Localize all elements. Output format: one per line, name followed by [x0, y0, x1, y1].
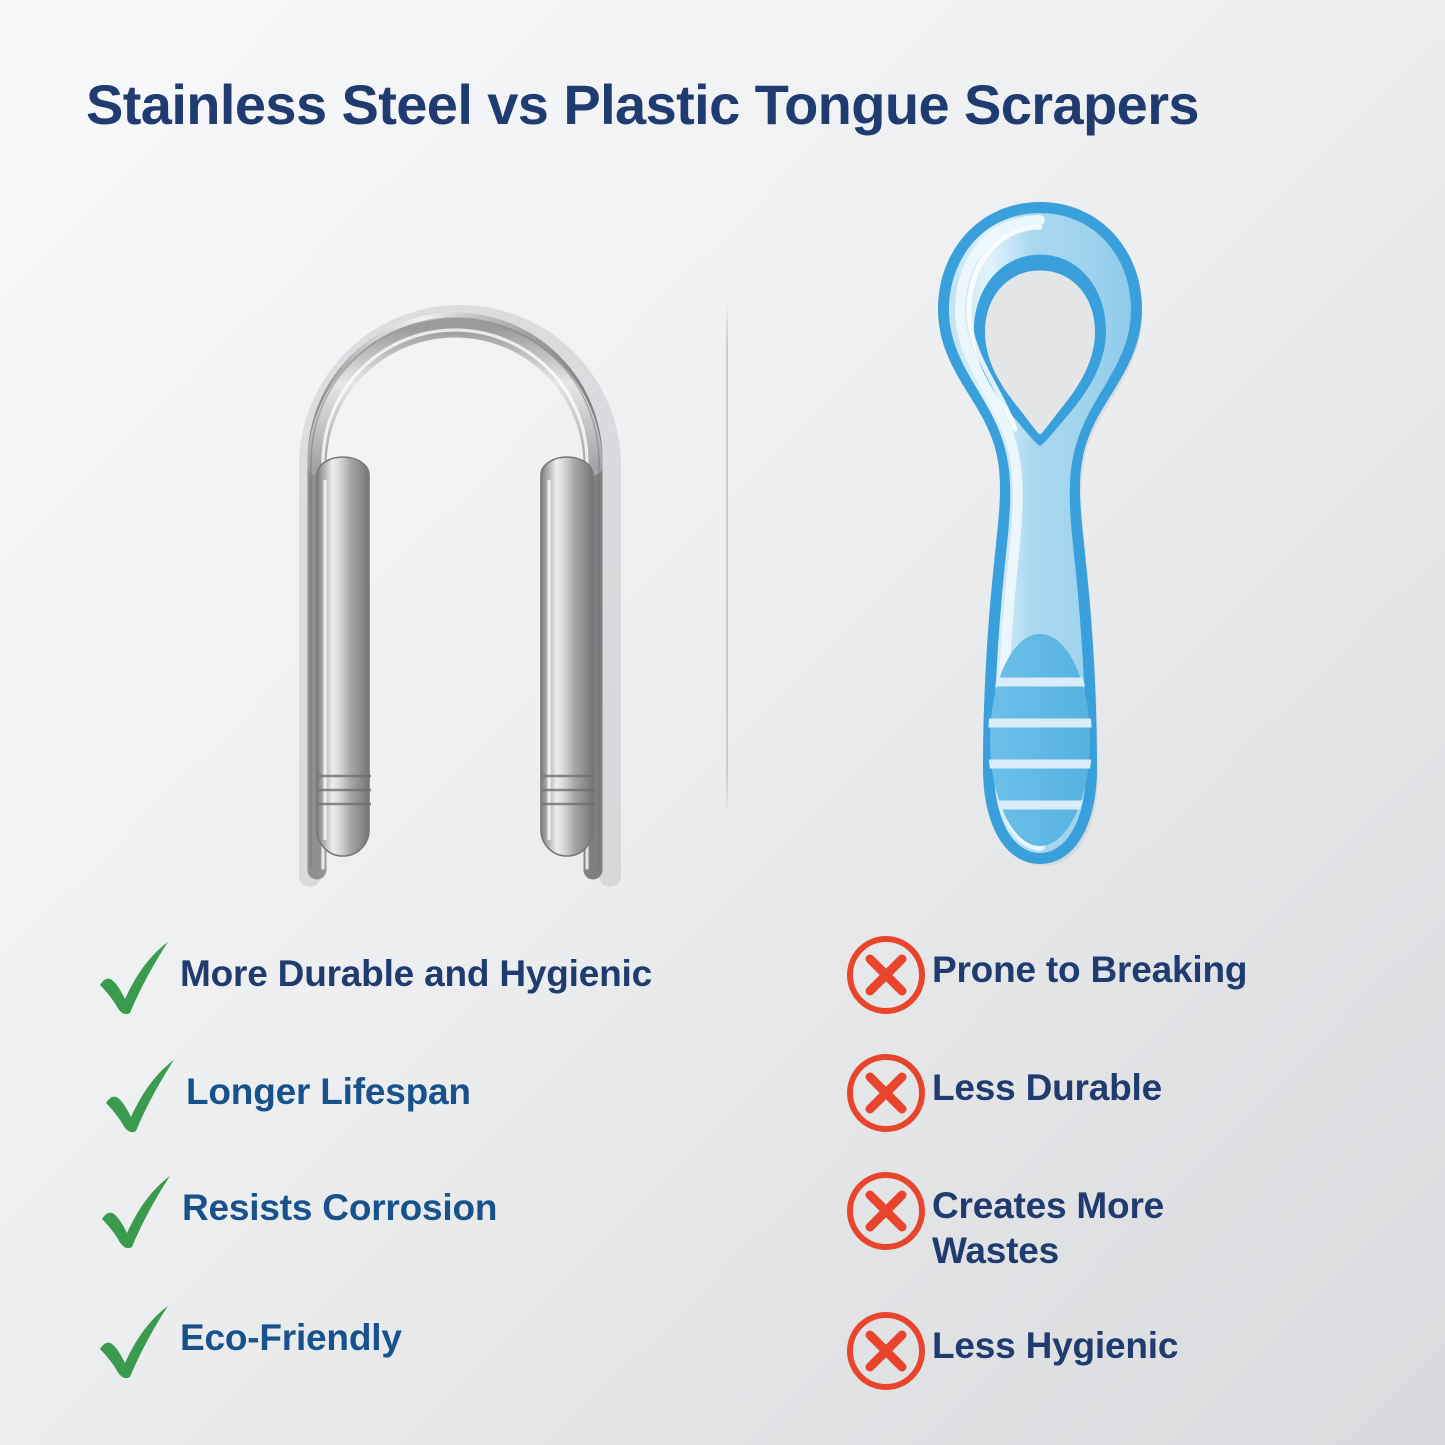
- green-check-icon: [88, 1297, 180, 1389]
- product-illustrations: [0, 160, 1445, 900]
- red-x-circle-icon: [840, 1305, 932, 1397]
- cons-list-item: Creates More Wastes: [840, 1165, 1164, 1273]
- cons-list-item: Less Hygienic: [840, 1305, 1178, 1397]
- page-title: Stainless Steel vs Plastic Tongue Scrape…: [86, 74, 1376, 137]
- steel-handle-left: [317, 457, 371, 856]
- green-check-icon: [90, 1167, 182, 1259]
- check-icon-slot: [94, 1051, 186, 1143]
- pros-item-label: Eco-Friendly: [180, 1297, 402, 1360]
- pros-item-label: Resists Corrosion: [182, 1167, 497, 1230]
- x-icon-slot: [840, 1047, 932, 1139]
- pros-list-item: More Durable and Hygienic: [88, 933, 652, 1025]
- cons-item-label: Creates More Wastes: [932, 1165, 1164, 1273]
- cons-item-label: Less Hygienic: [932, 1305, 1178, 1368]
- plastic-scraper-illustration: [890, 180, 1190, 880]
- stainless-steel-scraper-illustration: [205, 180, 705, 900]
- green-check-icon: [88, 933, 180, 1025]
- cons-list-item: Less Durable: [840, 1047, 1162, 1139]
- green-check-icon: [94, 1051, 186, 1143]
- pros-list-item: Eco-Friendly: [88, 1297, 402, 1389]
- red-x-circle-icon: [840, 929, 932, 1021]
- pros-list-item: Resists Corrosion: [90, 1167, 497, 1259]
- steel-handle-right: [541, 457, 595, 856]
- pros-list-item: Longer Lifespan: [94, 1051, 471, 1143]
- x-icon-slot: [840, 1165, 932, 1257]
- red-x-circle-icon: [840, 1047, 932, 1139]
- vertical-divider: [726, 300, 728, 815]
- pros-item-label: More Durable and Hygienic: [180, 933, 652, 996]
- comparison-lists: More Durable and Hygienic Longer Lifespa…: [0, 905, 1445, 1445]
- cons-item-label: Less Durable: [932, 1047, 1162, 1110]
- pros-item-label: Longer Lifespan: [186, 1051, 471, 1114]
- x-icon-slot: [840, 929, 932, 1021]
- check-icon-slot: [88, 1297, 180, 1389]
- cons-list-item: Prone to Breaking: [840, 929, 1247, 1021]
- check-icon-slot: [88, 933, 180, 1025]
- x-icon-slot: [840, 1305, 932, 1397]
- red-x-circle-icon: [840, 1165, 932, 1257]
- infographic-canvas: Stainless Steel vs Plastic Tongue Scrape…: [0, 0, 1445, 1445]
- check-icon-slot: [90, 1167, 182, 1259]
- cons-item-label: Prone to Breaking: [932, 929, 1247, 992]
